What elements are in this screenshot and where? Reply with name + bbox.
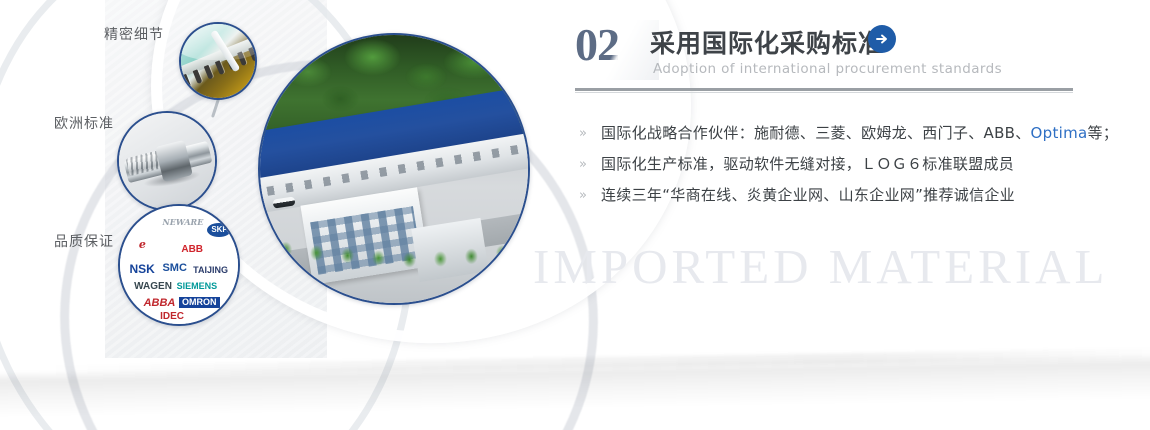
feature-bullet-item: »国际化生产标准，驱动软件无缝对接，ＬＯＧ６标准联盟成员 [575,149,1095,180]
gear-tooth [181,74,191,89]
gear-tooth [193,69,203,84]
brand-logo: SMC [162,263,186,274]
gallery-label-european: 欧洲标准 [54,113,114,133]
bullet-text-tail: 等； [1088,124,1119,142]
brand-logo: ABBA [144,298,176,309]
watermark-text: IMPORTED MATERIAL [533,238,1108,295]
bullet-text-lead: 国际化生产标准，驱动软件无缝对接，ＬＯＧ６标准联盟成员 [601,155,1014,173]
bullet-text: 国际化战略合作伙伴：施耐德、三菱、欧姆龙、西门子、ABB、Optima等； [601,124,1118,142]
brand-logo: IDEC [160,312,184,322]
section-number: 02 [575,22,619,68]
brand-logo: SIEMENS [177,282,218,291]
brand-logo: e [139,239,146,250]
precision-detail-photo[interactable] [179,22,257,100]
bullet-marker-icon: » [579,118,587,149]
bullet-text: 国际化生产标准，驱动软件无缝对接，ＬＯＧ６标准联盟成员 [601,155,1014,173]
quality-brands-photo[interactable]: NEWARESKFeABBNSKSMCTAIJINGWAGENSIEMENSAB… [118,204,240,326]
brand-logo: TAIJING [193,266,228,275]
gallery-label-precision: 精密细节 [104,24,164,44]
arrow-right-icon[interactable] [868,25,896,53]
brand-logo-list: NEWARESKFeABBNSKSMCTAIJINGWAGENSIEMENSAB… [120,206,238,324]
bullet-text: 连续三年“华商在线、炎黄企业网、山东企业网”推荐诚信企业 [601,186,1015,204]
bullet-marker-icon: » [579,180,587,211]
brand-logo: NSK [129,263,154,275]
feature-bullet-list: »国际化战略合作伙伴：施耐德、三菱、欧姆龙、西门子、ABB、Optima等；»国… [575,118,1095,211]
european-standard-photo[interactable] [117,111,217,211]
bullet-text-lead: 连续三年“华商在线、炎黄企业网、山东企业网”推荐诚信企业 [601,186,1015,204]
section-subtitle: Adoption of international procurement st… [653,61,1002,77]
bullet-marker-icon: » [579,149,587,180]
page-title: 采用国际化采购标准 [650,24,884,60]
gallery-label-quality: 品质保证 [54,231,114,251]
brand-logo: ABB [181,245,203,255]
tree-row [265,228,522,271]
bullet-highlight-term: Optima [1031,124,1088,142]
promo-banner: 精密细节 欧洲标准 品质保证 NEWARESKFeABBNSKSMCTAIJIN… [0,0,1150,430]
brand-logo: OMRON [179,297,220,308]
feature-bullet-item: »国际化战略合作伙伴：施耐德、三菱、欧姆龙、西门子、ABB、Optima等； [575,118,1095,149]
divider-thick-line [575,88,1073,91]
brand-logo: NEWARE [162,218,203,226]
header-divider [575,88,1073,93]
brand-logo: SKF [207,223,231,237]
factory-aerial-photo[interactable] [258,33,530,305]
feature-bullet-item: »连续三年“华商在线、炎黄企业网、山东企业网”推荐诚信企业 [575,180,1095,211]
gear-tooth [204,65,214,80]
bullet-text-lead: 国际化战略合作伙伴：施耐德、三菱、欧姆龙、西门子、ABB、 [601,124,1031,142]
divider-thin-line [575,92,1073,93]
section-header: 02 采用国际化采购标准 Adoption of international p… [575,22,1120,88]
gear-tooth [215,60,225,75]
brand-logo: WAGEN [134,282,172,292]
gear-highlight [179,22,257,60]
